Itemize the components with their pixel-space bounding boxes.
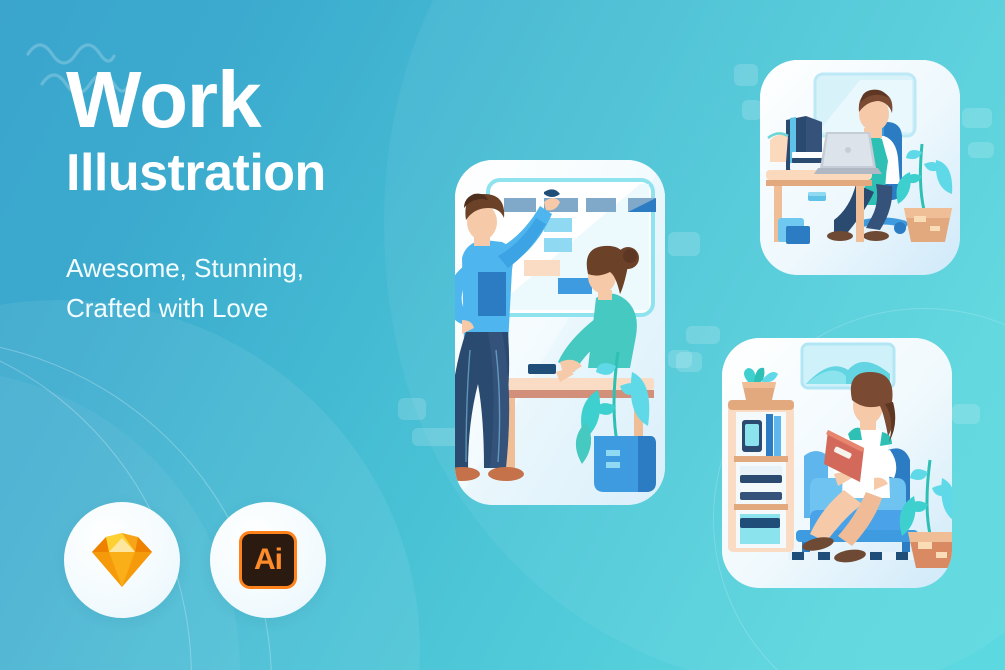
illustrator-badge[interactable]: Ai xyxy=(210,502,326,618)
sketch-diamond-icon xyxy=(91,532,153,588)
sketch-badge[interactable] xyxy=(64,502,180,618)
whiteboard-collab-scene xyxy=(400,150,700,520)
poster-canvas: Work Illustration Awesome, Stunning, Cra… xyxy=(0,0,1005,670)
decor-chip xyxy=(734,64,758,86)
sofa-reading-scene xyxy=(722,338,952,588)
adobe-illustrator-icon: Ai xyxy=(239,531,297,589)
page-title: Work xyxy=(66,62,486,139)
illustration-card-reading xyxy=(722,338,952,588)
decor-chip xyxy=(968,142,994,158)
decor-chip xyxy=(742,100,762,120)
desk-laptop-scene xyxy=(760,60,960,275)
illustration-card-desk xyxy=(760,60,960,275)
decor-chip xyxy=(962,108,992,128)
format-badges: Ai xyxy=(64,502,326,618)
decor-chip xyxy=(952,404,980,424)
